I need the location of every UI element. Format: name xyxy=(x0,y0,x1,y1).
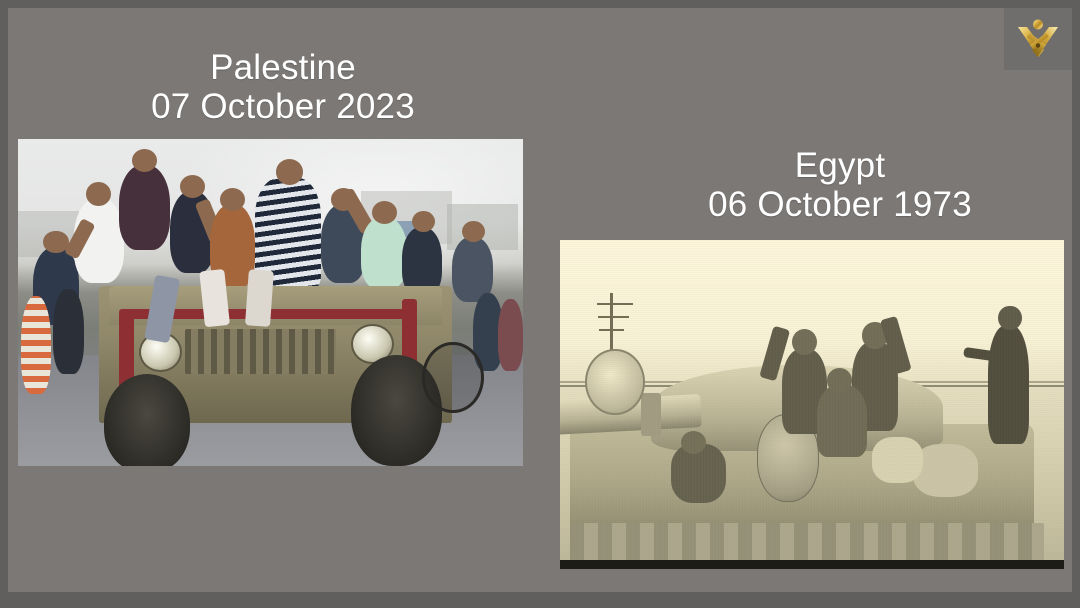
humvee-grille xyxy=(185,329,337,375)
bystander xyxy=(21,296,51,394)
motorbike xyxy=(422,342,484,413)
crowd-person-head xyxy=(132,149,157,172)
rider-leg xyxy=(245,269,274,326)
panel-date-palestine: 07 October 2023 xyxy=(68,87,498,126)
utility-pole-arm xyxy=(599,329,624,331)
stowed-kit-bundle xyxy=(872,437,922,483)
bystander xyxy=(53,289,83,374)
crowd-person-head xyxy=(412,211,435,232)
panel-title-egypt: Egypt xyxy=(620,146,1060,185)
soldier-standing-right xyxy=(988,326,1028,444)
soldier-head xyxy=(998,306,1021,331)
panel-date-egypt: 06 October 1973 xyxy=(620,185,1060,224)
panel-heading-egypt: Egypt 06 October 1973 xyxy=(620,146,1060,224)
soldier-seated xyxy=(817,385,867,457)
crowd-person-head xyxy=(372,201,397,224)
egypt-soldiers-on-tank-photo xyxy=(560,240,1064,569)
brand-logo-box[interactable] xyxy=(1004,8,1072,70)
soldier-head xyxy=(681,431,706,454)
gold-chevron-emblem-icon xyxy=(1014,17,1062,61)
crowd-person xyxy=(119,165,170,250)
panel-title-palestine: Palestine xyxy=(68,48,498,87)
utility-pole-arm xyxy=(598,316,628,318)
photo-bottom-dark-edge xyxy=(560,560,1064,569)
photo-scene-left xyxy=(18,139,523,466)
bystander xyxy=(498,299,523,371)
tank-spare-road-wheel xyxy=(585,349,644,416)
slide-canvas: Palestine 07 October 2023 Egypt 06 Octob… xyxy=(8,8,1072,592)
humvee-wheel-left xyxy=(104,374,190,466)
crowd-person-head xyxy=(180,175,205,198)
crowd-person xyxy=(361,217,406,289)
utility-pole-arm xyxy=(597,303,632,305)
crowd-person-head xyxy=(462,221,485,242)
tank-barrel-collar xyxy=(641,393,661,436)
crowd-person-head xyxy=(220,188,245,211)
slide-frame: Palestine 07 October 2023 Egypt 06 Octob… xyxy=(0,0,1080,608)
panel-heading-palestine: Palestine 07 October 2023 xyxy=(68,48,498,126)
crowd-person-head xyxy=(276,159,304,185)
photo-scene-right xyxy=(560,240,1064,569)
palestine-crowd-on-humvee-photo xyxy=(18,139,523,466)
soldier-head xyxy=(792,329,817,355)
tank-track-skirt xyxy=(570,523,1044,562)
